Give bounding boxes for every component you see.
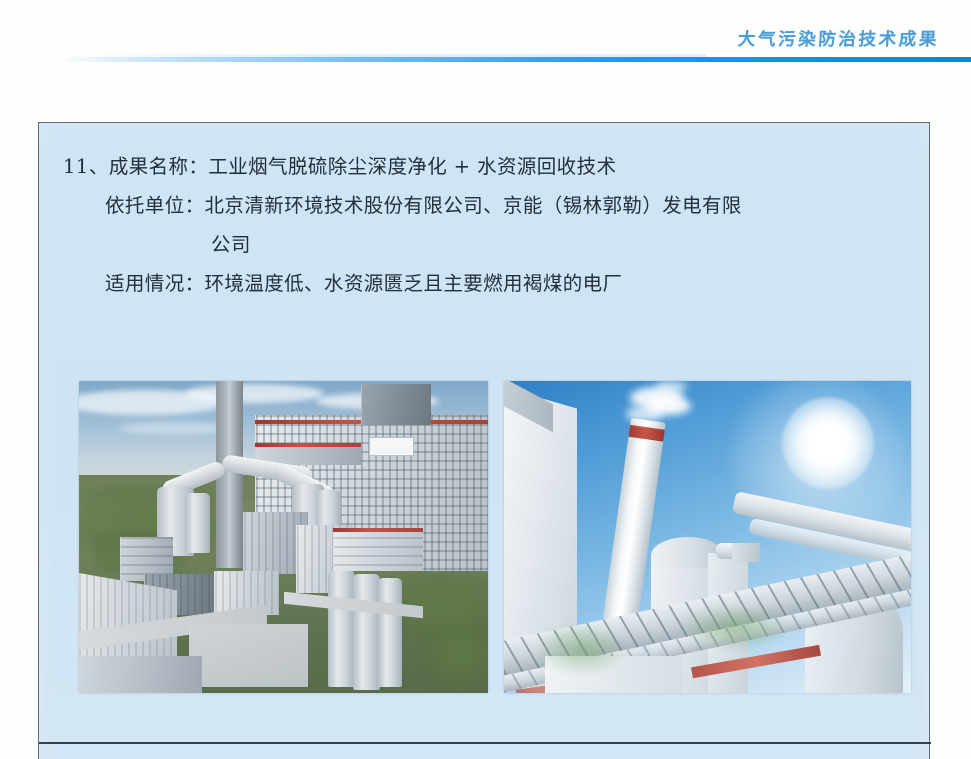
power-plant-aerial-photo <box>79 381 488 693</box>
entry-line-organization: 依托单位： 北京清新环境技术股份有限公司、京能（锡林郭勒）发电有限 <box>63 186 908 225</box>
entry-number: 11、 <box>63 147 109 186</box>
document-page: 大气污染防治技术成果 11、 成果名称： 工业烟气脱硫除尘深度净化 + 水资源回… <box>0 0 971 759</box>
header-rule <box>66 57 971 62</box>
figure-row <box>79 381 911 693</box>
entry-line-name: 11、 成果名称： 工业烟气脱硫除尘深度净化 + 水资源回收技术 <box>63 147 908 186</box>
entry-line-application: 适用情况： 环境温度低、水资源匮乏且主要燃用褐煤的电厂 <box>63 264 908 303</box>
field-value-organization-continuation: 公司 <box>211 225 251 264</box>
entry-text-block: 11、 成果名称： 工业烟气脱硫除尘深度净化 + 水资源回收技术 依托单位： 北… <box>63 147 908 303</box>
header-title: 大气污染防治技术成果 <box>737 26 940 51</box>
field-label-application: 适用情况： <box>105 264 205 303</box>
field-label-name: 成果名称： <box>109 147 209 186</box>
field-value-organization: 北京清新环境技术股份有限公司、京能（锡林郭勒）发电有限 <box>205 186 742 225</box>
entry-line-organization-continued: 公司 <box>63 225 908 264</box>
stack-plume-photo-canvas <box>504 381 911 693</box>
field-label-organization: 依托单位： <box>105 186 205 225</box>
content-panel: 11、 成果名称： 工业烟气脱硫除尘深度净化 + 水资源回收技术 依托单位： 北… <box>38 122 930 759</box>
page-header: 大气污染防治技术成果 <box>0 0 971 66</box>
field-value-name: 工业烟气脱硫除尘深度净化 + 水资源回收技术 <box>208 147 616 186</box>
power-plant-aerial-photo-canvas <box>79 381 488 693</box>
field-value-application: 环境温度低、水资源匮乏且主要燃用褐煤的电厂 <box>205 264 623 303</box>
panel-divider <box>39 742 931 744</box>
stack-plume-photo <box>504 381 911 693</box>
